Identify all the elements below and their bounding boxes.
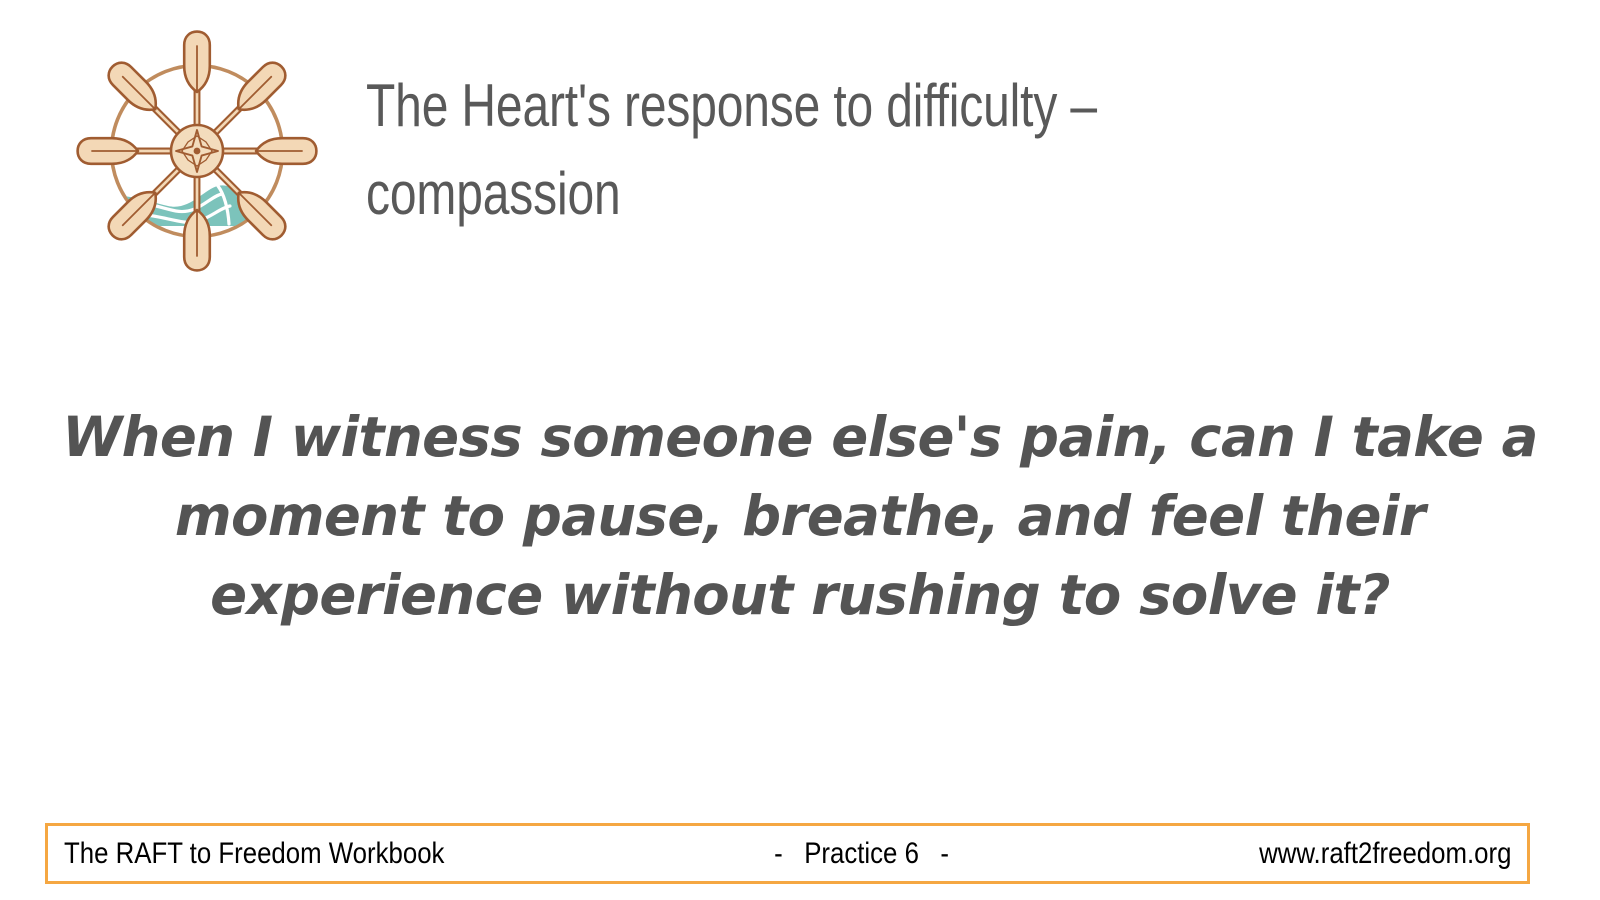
quote-block: When I witness someone else's pain, can … — [50, 398, 1550, 636]
ships-wheel-icon — [72, 26, 322, 276]
reflection-question-text: When I witness someone else's pain, can … — [58, 398, 1543, 636]
footer-practice-label: - Practice 6 - — [556, 837, 1168, 871]
footer-bar: The RAFT to Freedom Workbook - Practice … — [45, 823, 1530, 884]
slide-canvas: The Heart's response to difficulty – com… — [0, 0, 1600, 900]
footer-website-url[interactable]: www.raft2freedom.org — [1259, 837, 1511, 871]
slide-header: The Heart's response to difficulty – com… — [0, 0, 1600, 290]
raft-to-freedom-logo — [72, 26, 322, 276]
compass-rose-hub — [171, 125, 223, 177]
footer-workbook-title: The RAFT to Freedom Workbook — [64, 837, 444, 871]
page-title: The Heart's response to difficulty – com… — [366, 62, 1294, 238]
